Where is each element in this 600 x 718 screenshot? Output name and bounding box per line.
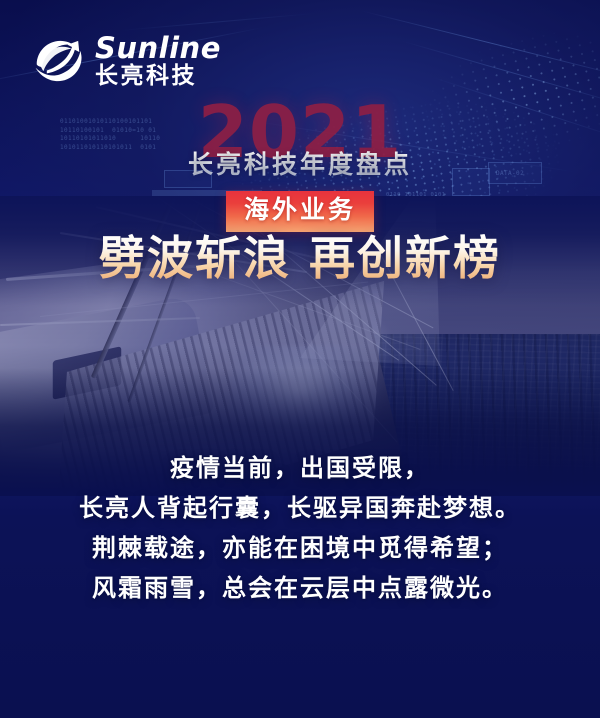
body-copy: 疫情当前，出国受限， 长亮人背起行囊，长驱异国奔赴梦想。 荆棘载途，亦能在困境中… (0, 448, 600, 608)
category-badge: 海外业务 (226, 191, 374, 232)
category-badge-label: 海外业务 (244, 196, 356, 225)
body-line: 疫情当前，出国受限， (0, 448, 600, 488)
logo-english-name: Sunline (95, 34, 221, 63)
body-line: 风霜雨雪，总会在云层中点露微光。 (0, 568, 600, 608)
body-line: 荆棘载途，亦能在困境中觅得希望； (0, 528, 600, 568)
sunline-logo[interactable]: Sunline 长亮科技 (30, 33, 221, 89)
main-headline: 劈波斩浪 再创新榜 (0, 233, 600, 284)
logo-chinese-name: 长亮科技 (95, 64, 221, 88)
body-line: 长亮人背起行囊，长驱异国奔赴梦想。 (0, 488, 600, 528)
poster-canvas: 01101001010110100101101 10110100101 0101… (0, 0, 600, 718)
subtitle-heading: 长亮科技年度盘点 (0, 150, 600, 180)
sunline-globe-arrow-icon (30, 33, 86, 89)
logo-wordmark: Sunline 长亮科技 (95, 34, 221, 88)
